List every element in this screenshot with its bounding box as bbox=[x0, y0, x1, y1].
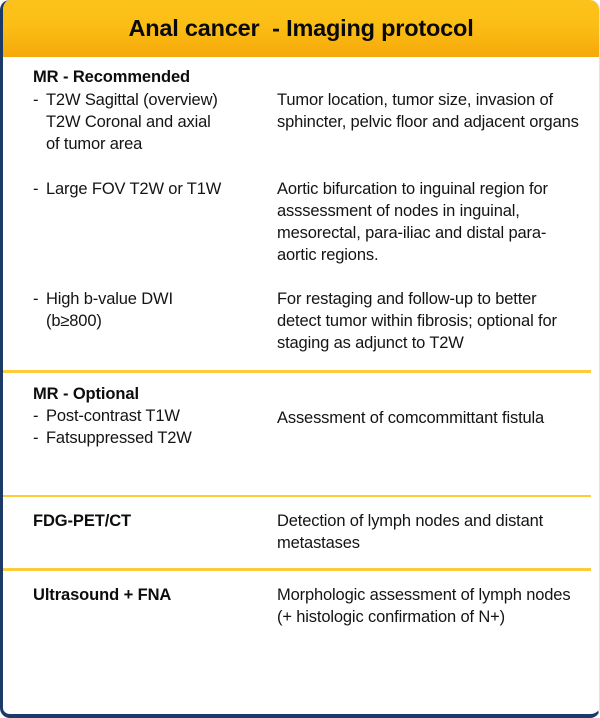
section-title-mr-optional: MR - Optional bbox=[33, 385, 271, 404]
modality-line: High b-value DWI bbox=[46, 288, 271, 310]
section-mr-recommended: MR - Recommended T2W Sagittal (overview)… bbox=[3, 57, 599, 370]
card-header: Anal cancer - Imaging protocol bbox=[3, 0, 599, 57]
row-description: Morphologic assessment of lymph nodes (+… bbox=[277, 584, 583, 628]
modality-list: Large FOV T2W or T1W bbox=[33, 178, 271, 200]
modality-line: T2W Coronal and axial bbox=[46, 111, 271, 133]
row-description: Aortic bifurcation to inguinal region fo… bbox=[277, 178, 583, 266]
section-ultrasound-fna: Ultrasound + FNA Morphologic assessment … bbox=[3, 571, 599, 646]
page-title: Anal cancer - Imaging protocol bbox=[128, 15, 473, 42]
list-item: Post-contrast T1W bbox=[33, 405, 271, 427]
section-mr-optional: MR - Optional Post-contrast T1W Fatsuppr… bbox=[3, 373, 599, 495]
section-heading-row: FDG-PET/CT Detection of lymph nodes and … bbox=[3, 510, 599, 554]
modality-list: T2W Sagittal (overview) T2W Coronal and … bbox=[33, 89, 271, 155]
modality-list: Post-contrast T1W Fatsuppressed T2W bbox=[33, 405, 271, 449]
section-title-fdg-pet-ct: FDG-PET/CT bbox=[33, 510, 271, 532]
protocol-row: T2W Sagittal (overview) T2W Coronal and … bbox=[3, 89, 599, 155]
protocol-row: Large FOV T2W or T1W Aortic bifurcation … bbox=[3, 178, 599, 266]
section-fdg-pet-ct: FDG-PET/CT Detection of lymph nodes and … bbox=[3, 497, 599, 568]
section-heading-row: Ultrasound + FNA Morphologic assessment … bbox=[3, 584, 599, 628]
modality-line: Large FOV T2W or T1W bbox=[46, 178, 271, 200]
modality-list: High b-value DWI (b≥800) bbox=[33, 288, 271, 332]
modality-line: of tumor area bbox=[46, 133, 271, 155]
row-description: Assessment of comcommittant fistula bbox=[277, 385, 583, 429]
modality-line: T2W Sagittal (overview) bbox=[46, 89, 271, 111]
row-description: For restaging and follow-up to better de… bbox=[277, 288, 583, 354]
modality-line: (b≥800) bbox=[46, 310, 271, 332]
list-item: Fatsuppressed T2W bbox=[33, 427, 271, 449]
section-heading-row: MR - Optional Post-contrast T1W Fatsuppr… bbox=[3, 385, 599, 449]
list-item: Large FOV T2W or T1W bbox=[33, 178, 271, 200]
list-item: High b-value DWI (b≥800) bbox=[33, 288, 271, 332]
list-item: T2W Sagittal (overview) T2W Coronal and … bbox=[33, 89, 271, 155]
protocol-row: High b-value DWI (b≥800) For restaging a… bbox=[3, 288, 599, 354]
row-description: Tumor location, tumor size, invasion of … bbox=[277, 89, 583, 133]
section-title-ultrasound-fna: Ultrasound + FNA bbox=[33, 584, 271, 606]
section-title-mr-recommended: MR - Recommended bbox=[33, 68, 271, 87]
row-description: Detection of lymph nodes and distant met… bbox=[277, 510, 583, 554]
imaging-protocol-card: Anal cancer - Imaging protocol MR - Reco… bbox=[0, 0, 600, 718]
section-heading-row: MR - Recommended bbox=[3, 68, 599, 87]
